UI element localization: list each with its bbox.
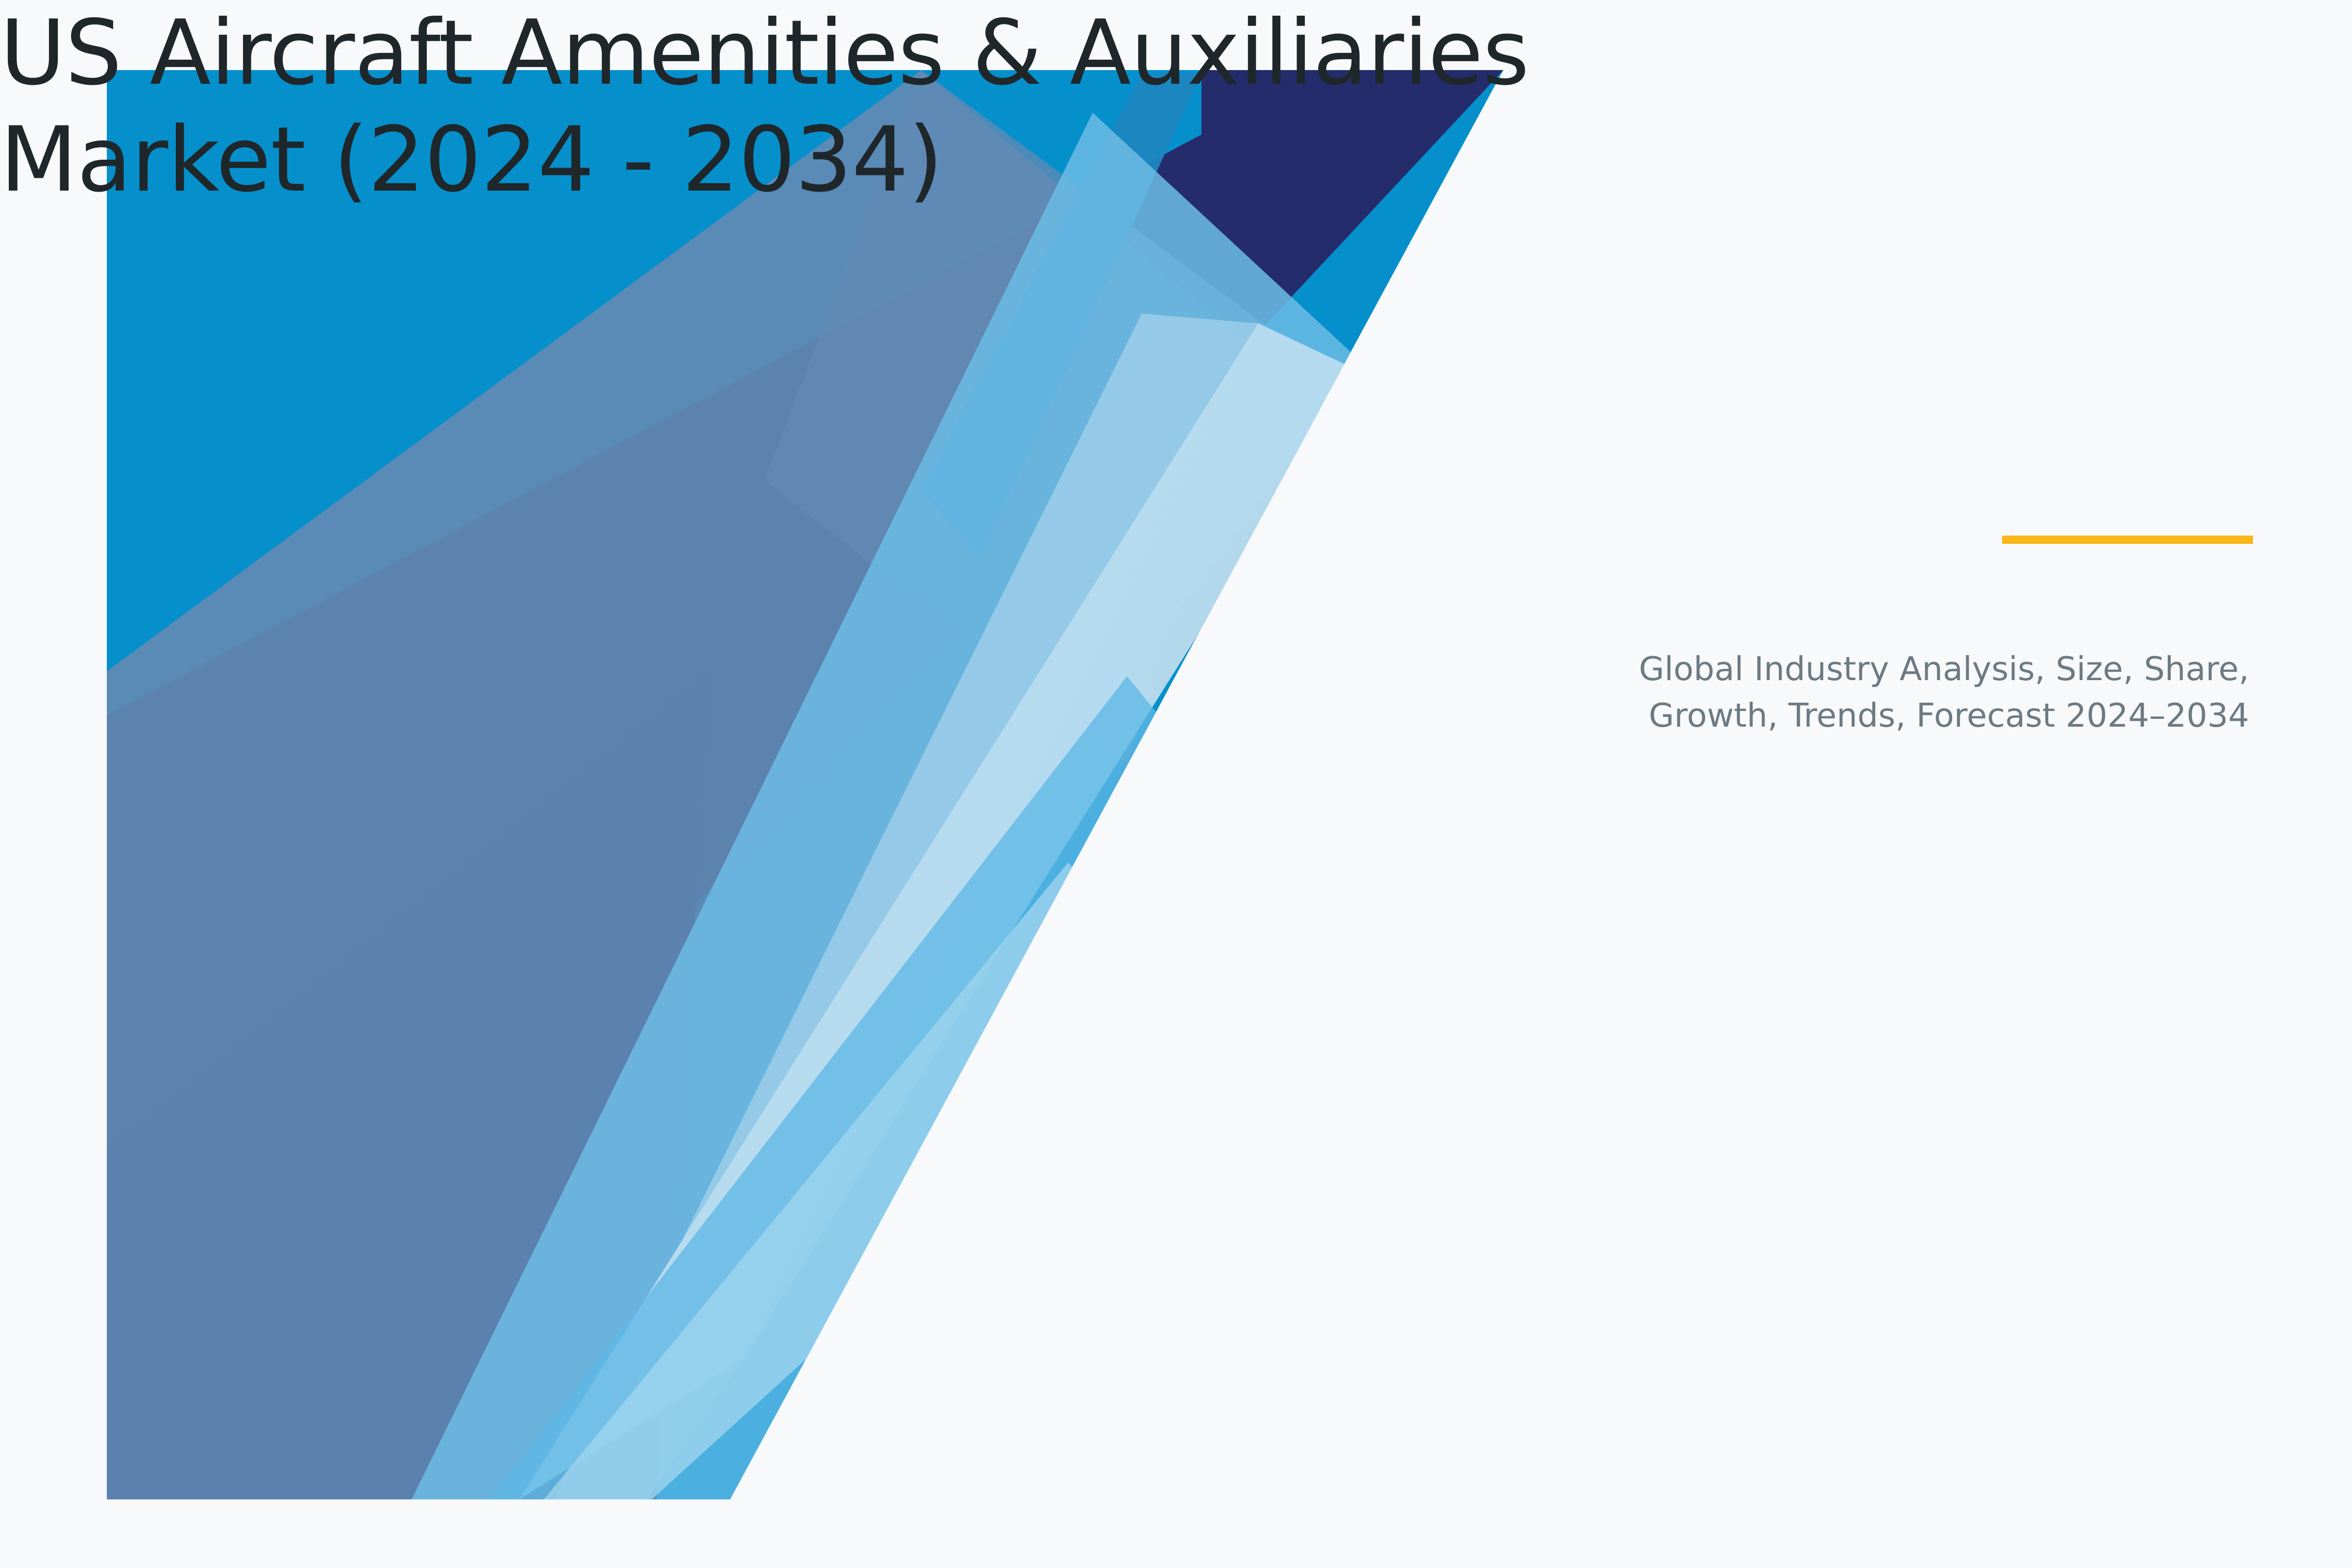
title-accent-underline [2002, 536, 2253, 544]
cover-page: US Aircraft Amenities & Auxiliaries Mark… [0, 0, 2352, 1568]
page-subtitle: Global Industry Analysis, Size, Share, G… [833, 646, 2249, 739]
abstract-geometric-artwork [0, 0, 2352, 1568]
page-title: US Aircraft Amenities & Auxiliaries Mark… [0, 0, 2352, 214]
